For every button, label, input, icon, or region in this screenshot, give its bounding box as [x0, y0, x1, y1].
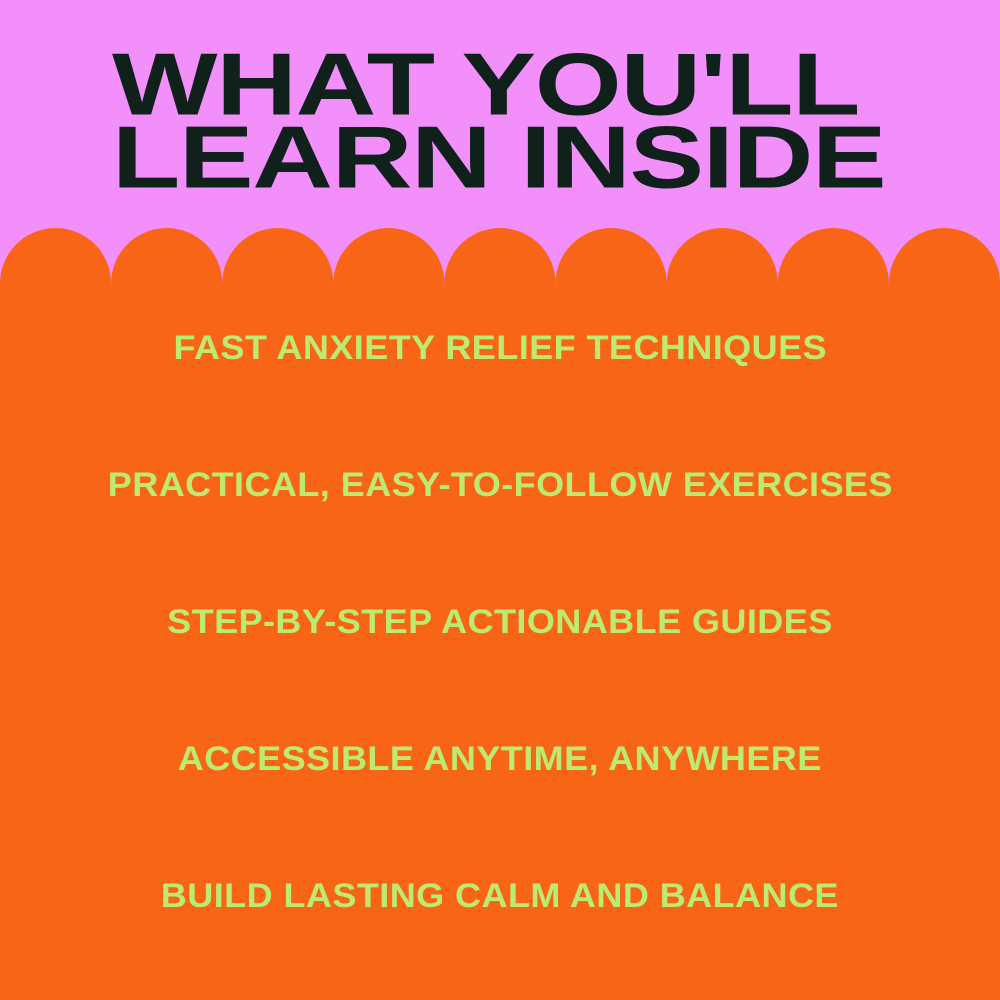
list-item: BUILD LASTING CALM AND BALANCE: [0, 879, 1000, 913]
list-item: ACCESSIBLE ANYTIME, ANYWHERE: [0, 742, 1000, 776]
benefit-label-5: BUILD LASTING CALM AND BALANCE: [161, 879, 839, 913]
page-title: WHAT YOU'LL LEARN INSIDE: [112, 51, 912, 193]
list-item: STEP-BY-STEP ACTIONABLE GUIDES: [0, 605, 1000, 639]
list-item: FAST ANXIETY RELIEF TECHNIQUES: [0, 331, 1000, 365]
benefit-label-2: PRACTICAL, EASY-TO-FOLLOW EXERCISES: [107, 468, 892, 502]
promo-poster: WHAT YOU'LL LEARN INSIDE FAST ANXIETY RE…: [0, 0, 1000, 1000]
benefit-list: FAST ANXIETY RELIEF TECHNIQUES PRACTICAL…: [0, 228, 1000, 1000]
benefit-label-3: STEP-BY-STEP ACTIONABLE GUIDES: [167, 605, 833, 639]
benefit-label-1: FAST ANXIETY RELIEF TECHNIQUES: [173, 331, 827, 365]
headline-line-2: LEARN INSIDE: [112, 124, 1000, 194]
benefit-label-4: ACCESSIBLE ANYTIME, ANYWHERE: [178, 742, 822, 776]
list-item: PRACTICAL, EASY-TO-FOLLOW EXERCISES: [0, 468, 1000, 502]
